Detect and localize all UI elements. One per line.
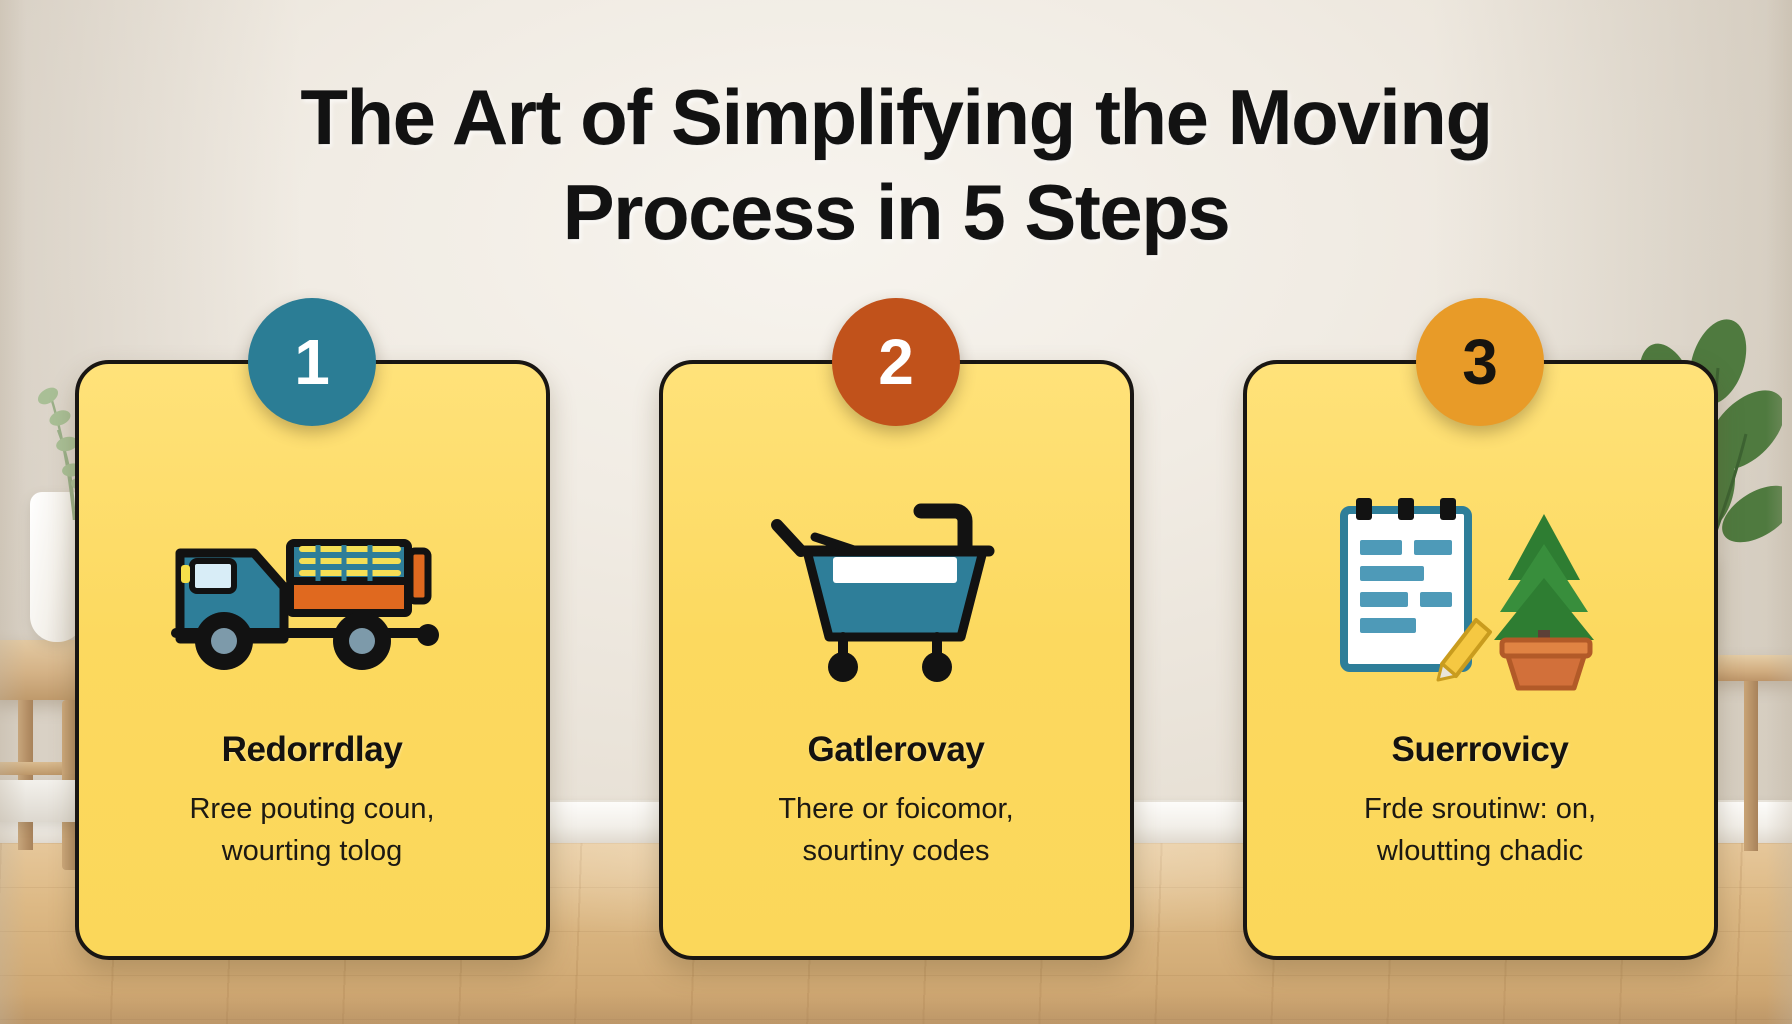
step-card-3-body: Frde sroutinw: on, wloutting chadic xyxy=(1315,788,1645,873)
step-number-1: 1 xyxy=(294,330,330,394)
step-number-badge-1: 1 xyxy=(248,298,376,426)
step-number-2: 2 xyxy=(878,330,914,394)
step-card-3[interactable]: Suerrovicy Frde sroutinw: on, wloutting … xyxy=(1243,360,1718,960)
step-card-2-body: There or foicomor, sourtiny codes xyxy=(731,788,1061,873)
step-number-badge-3: 3 xyxy=(1416,298,1544,426)
shopping-cart-icon xyxy=(771,485,1021,695)
page-title-line-2: Process in 5 Steps xyxy=(96,165,1696,260)
step-card-2-title: Gatlerovay xyxy=(808,730,985,770)
moving-truck-icon xyxy=(162,495,462,685)
step-card-2[interactable]: Gatlerovay There or foicomor, sourtiny c… xyxy=(659,360,1134,960)
step-card-2-wrapper: 2 xyxy=(659,360,1134,960)
step-card-3-title: Suerrovicy xyxy=(1392,730,1569,770)
checklist-and-plant-icon xyxy=(1330,488,1630,693)
step-card-3-wrapper: 3 xyxy=(1243,360,1718,960)
step-number-badge-2: 2 xyxy=(832,298,960,426)
step-card-2-body-line-2: sourtiny codes xyxy=(731,830,1061,872)
page-title-line-1: The Art of Simplifying the Moving xyxy=(300,73,1491,161)
step-card-3-body-line-2: wloutting chadic xyxy=(1315,830,1645,872)
step-cards-row: 1 xyxy=(0,360,1792,960)
step-card-1-body: Rree pouting coun, wourting tolog xyxy=(147,788,477,873)
step-card-1-wrapper: 1 xyxy=(75,360,550,960)
step-card-1[interactable]: Redorrdlay Rree pouting coun, wourting t… xyxy=(75,360,550,960)
step-card-1-icon-area xyxy=(162,456,462,724)
page-title: The Art of Simplifying the Moving Proces… xyxy=(96,70,1696,260)
step-card-1-body-line-1: Rree pouting coun, xyxy=(147,788,477,830)
step-card-2-body-line-1: There or foicomor, xyxy=(731,788,1061,830)
step-card-3-body-line-1: Frde sroutinw: on, xyxy=(1315,788,1645,830)
step-number-3: 3 xyxy=(1462,330,1498,394)
step-card-3-icon-area xyxy=(1330,456,1630,724)
step-card-2-icon-area xyxy=(771,456,1021,724)
step-card-1-body-line-2: wourting tolog xyxy=(147,830,477,872)
step-card-1-title: Redorrdlay xyxy=(222,730,403,770)
infographic-canvas: The Art of Simplifying the Moving Proces… xyxy=(0,0,1792,1024)
